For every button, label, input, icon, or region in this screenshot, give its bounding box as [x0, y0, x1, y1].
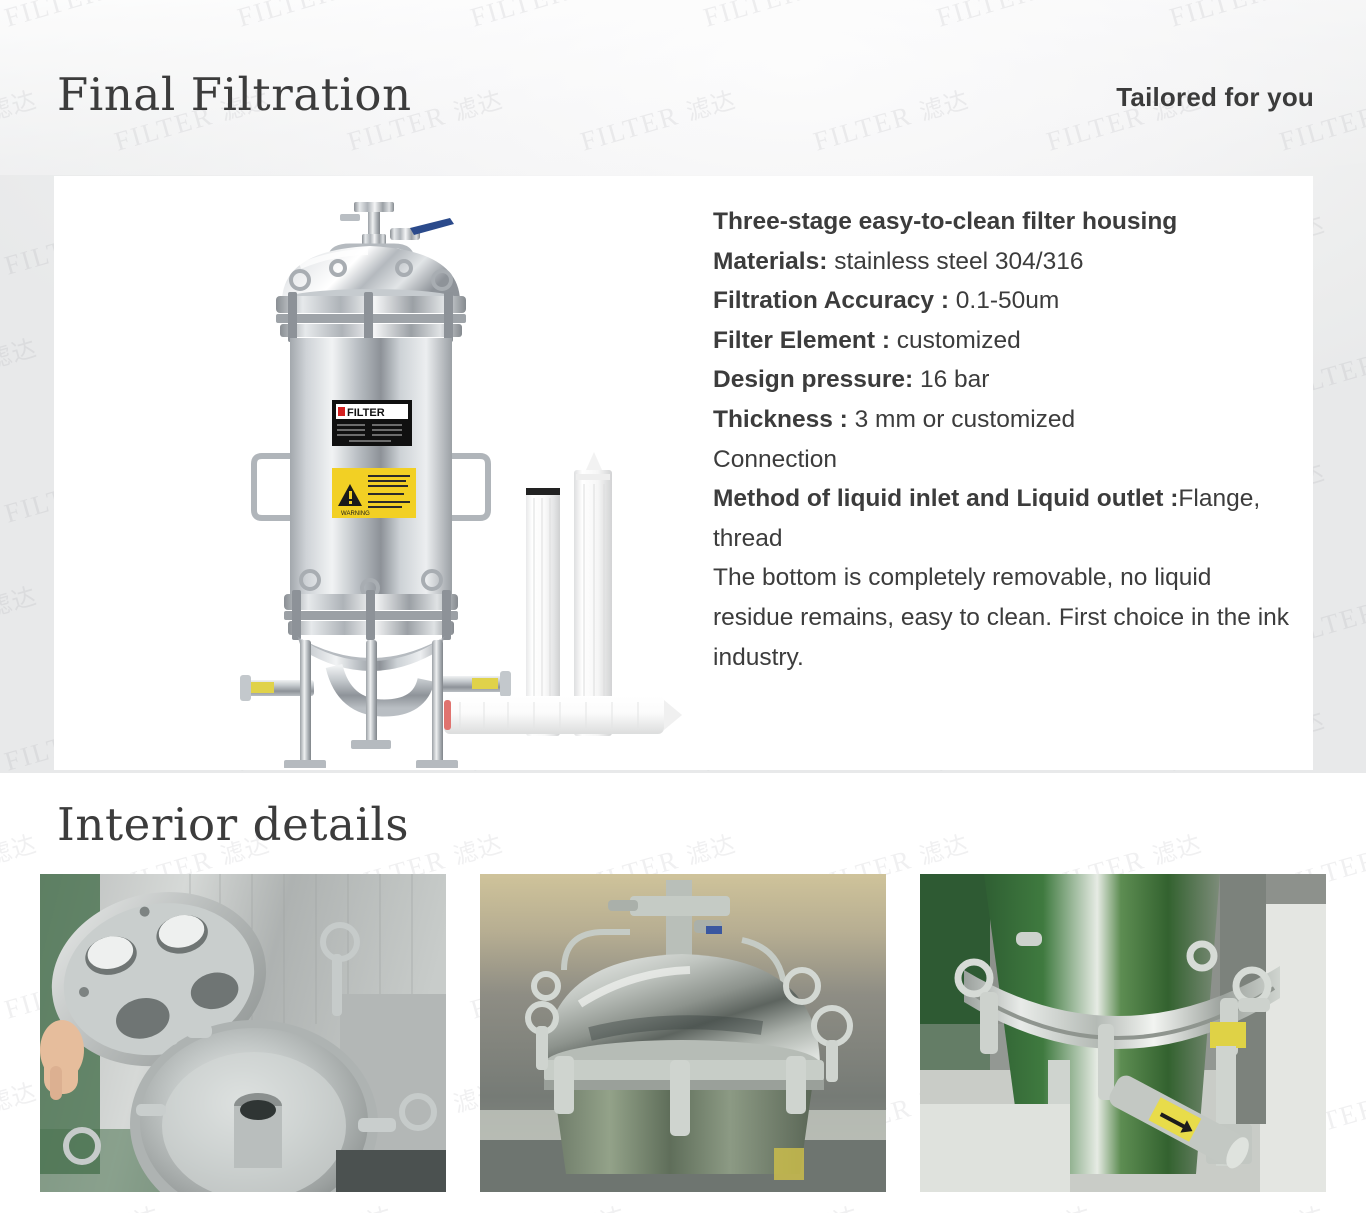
watermark-text: FILTER 滤达 [0, 824, 40, 902]
spec-line-method: Method of liquid inlet and Liquid outlet… [713, 479, 1291, 558]
svg-text:WARNING: WARNING [341, 511, 370, 517]
page-title: Final Filtration [57, 68, 412, 121]
spec-line-element: Filter Element : customized [713, 321, 1291, 361]
filter-cartridges [444, 452, 682, 736]
tripod-legs [284, 640, 458, 768]
warning-label: WARNING [332, 468, 416, 518]
interior-photo-2 [480, 874, 886, 1192]
product-image: FILTER [204, 188, 704, 768]
watermark-text: FILTER 滤达 [699, 1196, 862, 1213]
spec-line-title: Three-stage easy-to-clean filter housing [713, 202, 1291, 242]
section-title-interior: Interior details [57, 798, 409, 851]
tagline: Tailored for you [1116, 82, 1314, 113]
spec-line-thickness: Thickness : 3 mm or customized [713, 400, 1291, 440]
interior-photo-row [40, 874, 1326, 1192]
spec-line-materials: Materials: stainless steel 304/316 [713, 242, 1291, 282]
svg-text:FILTER: FILTER [347, 407, 385, 419]
watermark-text: FILTER 滤达 [0, 1072, 40, 1150]
interior-photo-1 [40, 874, 446, 1192]
spec-line-description: The bottom is completely removable, no l… [713, 558, 1291, 677]
watermark-text: FILTER 滤达 [1165, 1196, 1328, 1213]
watermark-text: FILTER 滤达 [932, 1196, 1095, 1213]
watermark-text: FILTER 滤达 [466, 1196, 629, 1213]
spec-list: Three-stage easy-to-clean filter housing… [713, 202, 1291, 677]
vent-valve-icon [340, 202, 454, 246]
spec-line-connection: Connection [713, 440, 1291, 480]
spec-line-accuracy: Filtration Accuracy : 0.1-50um [713, 281, 1291, 321]
watermark-text: FILTER 滤达 [0, 1196, 163, 1213]
nameplate: FILTER [332, 400, 412, 446]
spec-line-pressure: Design pressure: 16 bar [713, 360, 1291, 400]
interior-photo-3 [920, 874, 1326, 1192]
product-card: FILTER [54, 176, 1313, 770]
watermark-text: FILTER 滤达 [233, 1196, 396, 1213]
